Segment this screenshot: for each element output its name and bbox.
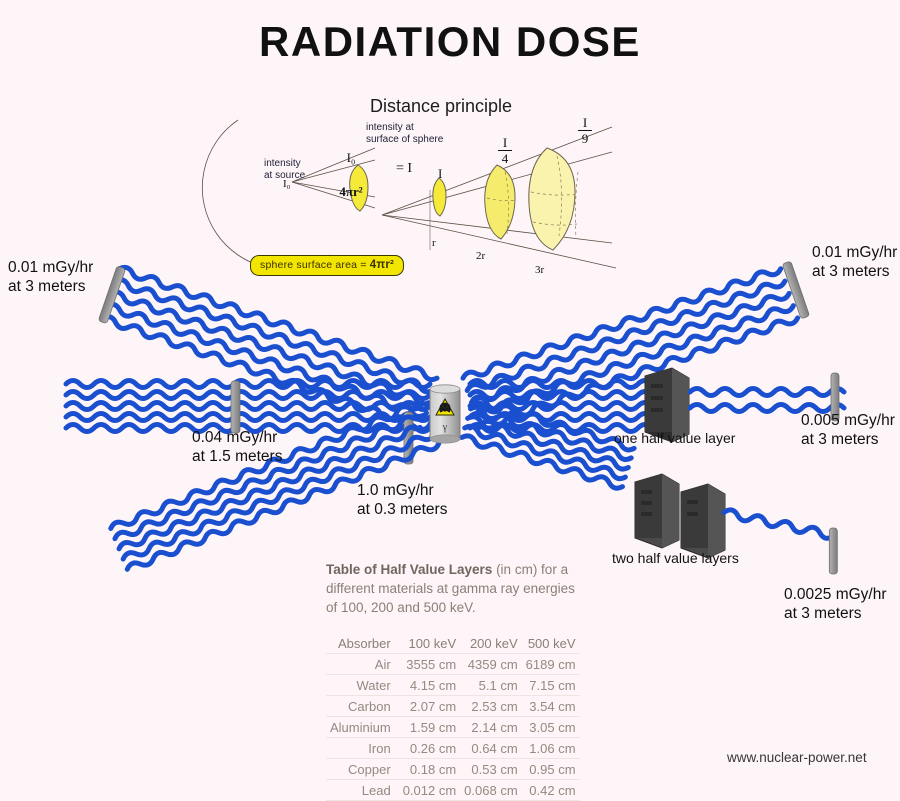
cell-100kev: 2.07 cm	[399, 696, 460, 717]
dose-value: 0.01 mGy/hr	[8, 258, 93, 277]
intensity-at-surface-line1: intensity at	[366, 122, 414, 134]
dose-value: 0.04 mGy/hr	[192, 428, 282, 447]
dose-value: 1.0 mGy/hr	[357, 481, 447, 500]
inverse-square-formula: I₀ 4πr² = I	[308, 150, 394, 200]
cell-absorber: Carbon	[326, 696, 399, 717]
cell-100kev: 4.15 cm	[399, 675, 460, 696]
cell-500kev: 7.15 cm	[522, 675, 580, 696]
formula-denominator: 4πr²	[308, 184, 394, 200]
formula-numerator: I₀	[308, 150, 394, 166]
table-row: Iron 0.26 cm 0.64 cm 1.06 cm	[326, 738, 580, 759]
beam-middle-left	[66, 381, 430, 432]
dose-distance: at 3 meters	[784, 604, 887, 623]
dose-distance: at 3 meters	[8, 277, 93, 296]
cell-200kev: 0.53 cm	[460, 759, 521, 780]
callout-value: 4πr²	[370, 259, 394, 271]
distance-principle-title: Distance principle	[370, 96, 512, 117]
dose-value: 0.01 mGy/hr	[812, 243, 897, 262]
cell-absorber: Water	[326, 675, 399, 696]
detector-lower-right	[820, 526, 847, 575]
cell-200kev: 5.1 cm	[460, 675, 521, 696]
intensity-fraction-one-quarter: I 4	[498, 136, 512, 165]
website-credit: www.nuclear-power.net	[727, 750, 867, 765]
column-header-100kev: 100 keV	[399, 633, 460, 654]
cell-100kev: 1.59 cm	[399, 717, 460, 738]
dose-distance: at 3 meters	[812, 262, 897, 281]
cell-100kev: 0.26 cm	[399, 738, 460, 759]
cell-100kev: 0.012 cm	[399, 780, 460, 801]
distance-marker-2r: 2r	[476, 250, 485, 262]
caption-two-half-value-layers: two half value layers	[612, 550, 739, 566]
dose-distance: at 3 meters	[801, 430, 895, 449]
table-row: Lead 0.012 cm 0.068 cm 0.42 cm	[326, 780, 580, 801]
column-header-200kev: 200 keV	[460, 633, 521, 654]
table-header-row: Absorber 100 keV 200 keV 500 keV	[326, 633, 580, 654]
cell-500kev: 1.06 cm	[522, 738, 580, 759]
dose-label-mid-left: 0.04 mGy/hr at 1.5 meters	[192, 428, 282, 467]
cell-200kev: 4359 cm	[460, 654, 521, 675]
dose-value: 0.0025 mGy/hr	[784, 585, 887, 604]
svg-text:γ: γ	[442, 422, 448, 433]
cell-200kev: 0.068 cm	[460, 780, 521, 801]
table-row: Copper 0.18 cm 0.53 cm 0.95 cm	[326, 759, 580, 780]
radiation-dose-infographic: RADIATION DOSE	[0, 0, 900, 800]
table-row: Water 4.15 cm 5.1 cm 7.15 cm	[326, 675, 580, 696]
dose-distance: at 1.5 meters	[192, 447, 282, 466]
intensity-fraction-one-ninth: I 9	[578, 116, 592, 145]
column-header-500kev: 500 keV	[522, 633, 580, 654]
cell-absorber: Lead	[326, 780, 399, 801]
table-intro: Table of Half Value Layers (in cm) for a…	[326, 560, 586, 617]
cell-absorber: Air	[326, 654, 399, 675]
radioactive-source-container: γ	[430, 385, 460, 443]
dose-label-near-left: 1.0 mGy/hr at 0.3 meters	[357, 481, 447, 520]
table-intro-strong: Table of Half Value Layers	[326, 562, 492, 577]
cell-100kev: 3555 cm	[399, 654, 460, 675]
cell-100kev: 0.18 cm	[399, 759, 460, 780]
intensity-at-surface-line2: surface of sphere	[366, 134, 443, 146]
shield-two-half-value-layers	[635, 474, 725, 558]
table-row: Carbon 2.07 cm 2.53 cm 3.54 cm	[326, 696, 580, 717]
intensity-at-source-line1: intensity	[264, 158, 301, 170]
cell-500kev: 3.54 cm	[522, 696, 580, 717]
caption-one-half-value-layer: one half value layer	[614, 430, 735, 446]
dose-distance: at 0.3 meters	[357, 500, 447, 519]
half-value-layer-table-block: Table of Half Value Layers (in cm) for a…	[326, 560, 586, 801]
dose-label-lower-right: 0.0025 mGy/hr at 3 meters	[784, 585, 887, 624]
cell-500kev: 0.95 cm	[522, 759, 580, 780]
dose-label-top-right: 0.01 mGy/hr at 3 meters	[812, 243, 897, 282]
dose-label-mid-right: 0.005 mGy/hr at 3 meters	[801, 411, 895, 450]
dose-value: 0.005 mGy/hr	[801, 411, 895, 430]
detector-mid-left	[231, 381, 240, 433]
cell-absorber: Iron	[326, 738, 399, 759]
intensity-label-I: I	[438, 166, 442, 182]
cell-500kev: 3.05 cm	[522, 717, 580, 738]
cell-absorber: Aluminium	[326, 717, 399, 738]
cell-500kev: 6189 cm	[522, 654, 580, 675]
cell-500kev: 0.42 cm	[522, 780, 580, 801]
distance-marker-3r: 3r	[535, 264, 544, 276]
cell-200kev: 2.14 cm	[460, 717, 521, 738]
dose-label-top-left: 0.01 mGy/hr at 3 meters	[8, 258, 93, 297]
table-row: Air 3555 cm 4359 cm 6189 cm	[326, 654, 580, 675]
cell-200kev: 2.53 cm	[460, 696, 521, 717]
half-value-layer-table: Absorber 100 keV 200 keV 500 keV Air 355…	[326, 633, 580, 801]
callout-label: sphere surface area =	[260, 259, 367, 271]
sphere-surface-area-callout: sphere surface area = 4πr²	[250, 255, 404, 276]
table-row: Aluminium 1.59 cm 2.14 cm 3.05 cm	[326, 717, 580, 738]
column-header-absorber: Absorber	[326, 633, 399, 654]
cell-absorber: Copper	[326, 759, 399, 780]
distance-marker-r: r	[432, 237, 436, 249]
formula-equals: = I	[396, 161, 412, 177]
source-intensity-symbol: I₀	[283, 178, 291, 190]
cell-200kev: 0.64 cm	[460, 738, 521, 759]
